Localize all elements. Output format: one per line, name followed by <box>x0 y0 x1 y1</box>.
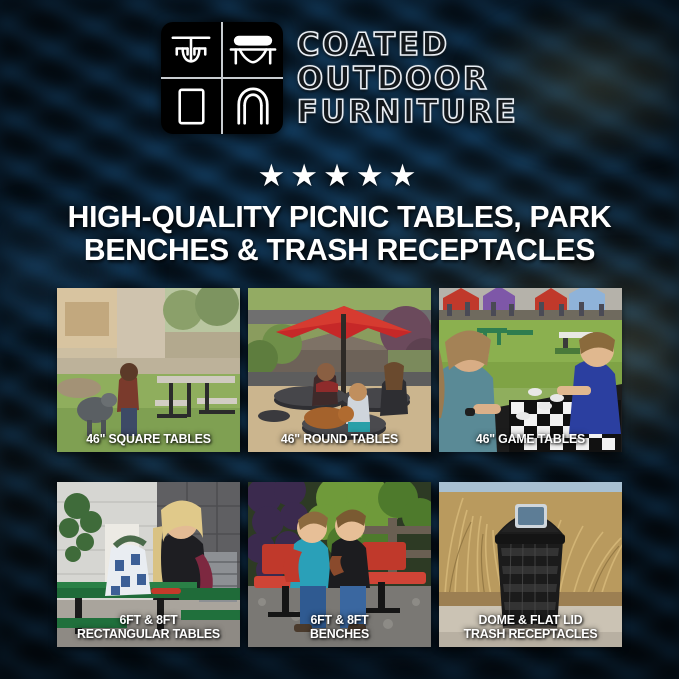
product-card-trash-receptacles[interactable]: DOME & FLAT LID TRASH RECEPTACLES <box>439 482 622 647</box>
game-tables-photo <box>439 288 622 452</box>
product-banner: COATED OUTDOOR FURNITURE ★★★★★ HIGH-QUAL… <box>0 0 679 679</box>
logo-line-coated: COATED <box>297 29 450 62</box>
product-card-square-tables[interactable]: 46" SQUARE TABLES <box>57 288 240 452</box>
product-card-rectangular-tables[interactable]: 6FT & 8FT RECTANGULAR TABLES <box>57 482 240 647</box>
park-bench-icon <box>222 22 283 78</box>
star-rating: ★★★★★ <box>0 160 679 191</box>
product-card-benches[interactable]: 6FT & 8FT BENCHES <box>248 482 431 647</box>
headline-line-1: HIGH-QUALITY PICNIC TABLES, PARK <box>39 200 639 233</box>
product-card-round-tables[interactable]: 46" ROUND TABLES <box>248 288 431 452</box>
product-card-game-tables[interactable]: 46" GAME TABLES <box>439 288 622 452</box>
logo-mark <box>161 22 283 134</box>
product-label: 46" ROUND TABLES <box>253 432 427 446</box>
logo-wordmark: COATED OUTDOOR FURNITURE <box>297 29 519 130</box>
logo-line-furniture: FURNITURE <box>297 96 519 129</box>
bike-rack-icon <box>222 78 283 134</box>
product-label: DOME & FLAT LID TRASH RECEPTACLES <box>444 613 618 641</box>
page-title: HIGH-QUALITY PICNIC TABLES, PARK BENCHES… <box>39 200 639 267</box>
product-label: 6FT & 8FT RECTANGULAR TABLES <box>62 613 236 641</box>
product-grid: 46" SQUARE TABLES <box>57 288 623 647</box>
square-tables-photo <box>57 288 240 452</box>
round-tables-photo <box>248 288 431 452</box>
logo-line-outdoor: OUTDOOR <box>297 63 489 96</box>
brand-header: COATED OUTDOOR FURNITURE <box>0 22 679 134</box>
star-icons: ★★★★★ <box>258 160 422 191</box>
product-label: 46" GAME TABLES <box>444 432 618 446</box>
product-label: 46" SQUARE TABLES <box>62 432 236 446</box>
headline-line-2: BENCHES & TRASH RECEPTACLES <box>39 233 639 266</box>
trash-receptacle-icon <box>161 78 222 134</box>
product-label: 6FT & 8FT BENCHES <box>253 613 427 641</box>
picnic-table-icon <box>161 22 222 78</box>
